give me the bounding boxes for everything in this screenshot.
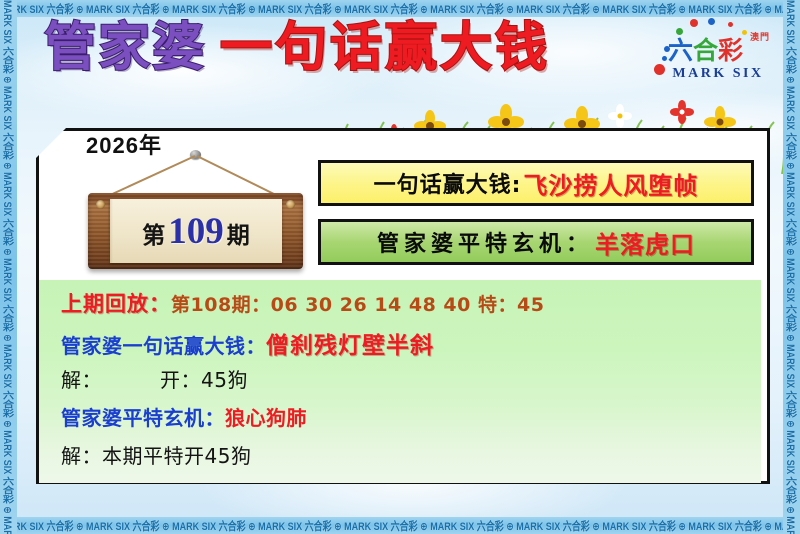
border-right: MARK SIX 六合彩 ⊕ MARK SIX 六合彩 ⊕ MARK SIX 六… xyxy=(783,0,800,534)
border-left-text: MARK SIX 六合彩 ⊕ MARK SIX 六合彩 ⊕ MARK SIX 六… xyxy=(0,0,16,534)
result-row-replay: 上期回放： 第108期：06 30 26 14 48 40 特：45 xyxy=(39,288,761,326)
issue-number: 109 xyxy=(168,211,224,252)
result-row-one-sentence: 管家婆一句话赢大钱： 僧刹残灯壁半斜 xyxy=(39,326,761,364)
border-bottom-text: MARK SIX 六合彩 ⊕ MARK SIX 六合彩 ⊕ MARK SIX 六… xyxy=(0,517,800,533)
replay-label: 上期回放： xyxy=(61,288,171,318)
results-panel: 上期回放： 第108期：06 30 26 14 48 40 特：45 管家婆一句… xyxy=(39,280,761,483)
logo-region-label: 澳門 xyxy=(750,30,770,43)
issue-number-text: 第109期 xyxy=(142,213,250,250)
border-top-text: MARK SIX 六合彩 ⊕ MARK SIX 六合彩 ⊕ MARK SIX 六… xyxy=(0,0,800,16)
pingte-xuanji-value: 羊落虎口 xyxy=(595,225,695,260)
border-right-text: MARK SIX 六合彩 ⊕ MARK SIX 六合彩 ⊕ MARK SIX 六… xyxy=(783,0,799,534)
plaque-paper: 第109期 xyxy=(110,199,282,263)
result-row-explain-1: 解： 开：45狗 xyxy=(39,364,761,402)
pingte-xuanji-banner: 管家婆平特玄机：羊落虎口 xyxy=(318,219,754,265)
title-brand: 管家婆 xyxy=(44,18,206,78)
one-sentence-value: 飞沙捞人风堕帧 xyxy=(523,166,698,201)
explain-2-value: 本期平特开45狗 xyxy=(102,440,251,469)
poster-root: 澳門 六合彩 MARK SIX 管家婆一句话赢大钱 2026年 第109期 xyxy=(0,0,800,534)
pingte-xuanji-label: 管家婆平特玄机： xyxy=(377,226,593,258)
title-slogan: 一句话赢大钱 xyxy=(220,18,550,78)
border-bottom: MARK SIX 六合彩 ⊕ MARK SIX 六合彩 ⊕ MARK SIX 六… xyxy=(0,517,800,534)
pingte-result-label: 管家婆平特玄机： xyxy=(61,402,225,431)
replay-value: 第108期：06 30 26 14 48 40 特：45 xyxy=(171,290,544,317)
plaque-screw-left-icon xyxy=(96,200,105,209)
pingte-result-value: 狼心狗肺 xyxy=(225,402,307,431)
issue-prefix: 第 xyxy=(142,223,165,249)
logo-english-name: MARK SIX xyxy=(662,66,774,82)
explain-1-value: 开：45狗 xyxy=(160,364,248,393)
issue-suffix: 期 xyxy=(227,223,250,249)
one-sentence-result-label: 管家婆一句话赢大钱： xyxy=(61,330,266,359)
issue-plaque: 第109期 xyxy=(78,150,318,272)
page-title: 管家婆一句话赢大钱 xyxy=(44,22,550,74)
logo-chinese-name: 六合彩 xyxy=(668,38,743,63)
result-row-pingte: 管家婆平特玄机： 狼心狗肺 xyxy=(39,402,761,440)
plaque-board: 第109期 xyxy=(88,193,303,269)
border-left: MARK SIX 六合彩 ⊕ MARK SIX 六合彩 ⊕ MARK SIX 六… xyxy=(0,0,17,534)
plaque-screw-right-icon xyxy=(286,200,295,209)
border-top: MARK SIX 六合彩 ⊕ MARK SIX 六合彩 ⊕ MARK SIX 六… xyxy=(0,0,800,17)
result-row-explain-2: 解： 本期平特开45狗 xyxy=(39,440,761,478)
one-sentence-label: 一句话赢大钱: xyxy=(374,167,522,199)
one-sentence-result-value: 僧刹残灯壁半斜 xyxy=(266,326,434,360)
one-sentence-banner: 一句话赢大钱:飞沙捞人风堕帧 xyxy=(318,160,754,206)
explain-1-label: 解： xyxy=(61,364,102,393)
explain-2-label: 解： xyxy=(61,440,102,469)
mark-six-logo: 澳門 六合彩 MARK SIX xyxy=(646,16,774,94)
